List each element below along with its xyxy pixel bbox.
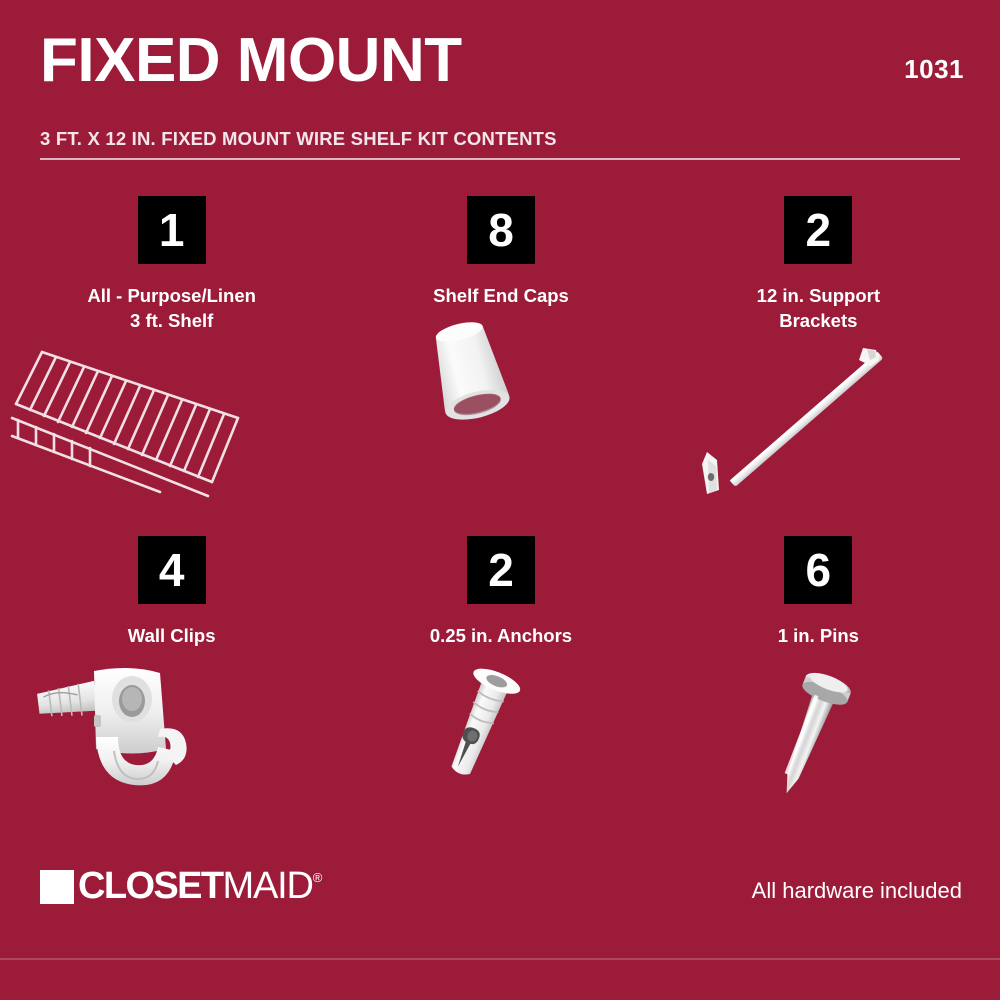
registered-trademark-icon: ® (313, 871, 323, 884)
wall-clip-icon (10, 655, 333, 820)
logo-secondary-text: MAID (223, 868, 313, 904)
quantity-badge: 4 (138, 536, 206, 604)
quantity-badge: 1 (138, 196, 206, 264)
kit-item-wire-shelf: 1 All - Purpose/Linen3 ft. Shelf (0, 196, 333, 536)
wire-shelf-icon (10, 340, 333, 505)
footer-rule (0, 958, 1000, 960)
kit-item-wall-anchor: 2 0.25 in. Anchors (333, 536, 666, 876)
item-label: Wall Clips (128, 624, 216, 649)
item-label: 0.25 in. Anchors (430, 624, 572, 649)
sku-number: 1031 (904, 54, 964, 85)
kit-item-shelf-end-cap: 8 Shelf End Caps (333, 196, 666, 536)
header-divider (40, 158, 960, 160)
quantity-badge: 2 (784, 196, 852, 264)
quantity-badge: 8 (467, 196, 535, 264)
support-bracket-icon (667, 340, 970, 505)
item-label: 1 in. Pins (778, 624, 859, 649)
page-title: FIXED MOUNT (40, 30, 462, 92)
logo-square-mark (40, 870, 74, 904)
hardware-note: All hardware included (752, 878, 962, 904)
item-label: Shelf End Caps (433, 284, 569, 309)
header: FIXED MOUNT 1031 3 FT. X 12 IN. FIXED MO… (0, 0, 1000, 175)
logo-primary-text: CLOSET (78, 868, 223, 904)
item-label: 12 in. SupportBrackets (757, 284, 880, 334)
footer: CLOSET MAID ® All hardware included (0, 876, 1000, 1000)
steel-pin-icon (667, 655, 970, 820)
kit-item-support-bracket: 2 12 in. SupportBrackets (667, 196, 1000, 536)
closetmaid-logo: CLOSET MAID ® (40, 868, 322, 904)
item-label: All - Purpose/Linen3 ft. Shelf (87, 284, 256, 334)
shelf-end-cap-icon (335, 315, 666, 480)
quantity-badge: 2 (467, 536, 535, 604)
kit-item-wall-clip: 4 Wall Clips (0, 536, 333, 876)
kit-contents-grid: 1 All - Purpose/Linen3 ft. Shelf (0, 196, 1000, 876)
wall-anchor-icon (335, 655, 666, 820)
quantity-badge: 6 (784, 536, 852, 604)
kit-item-steel-pin: 6 1 in. Pins (667, 536, 1000, 876)
page-subtitle: 3 FT. X 12 IN. FIXED MOUNT WIRE SHELF KI… (40, 128, 557, 150)
